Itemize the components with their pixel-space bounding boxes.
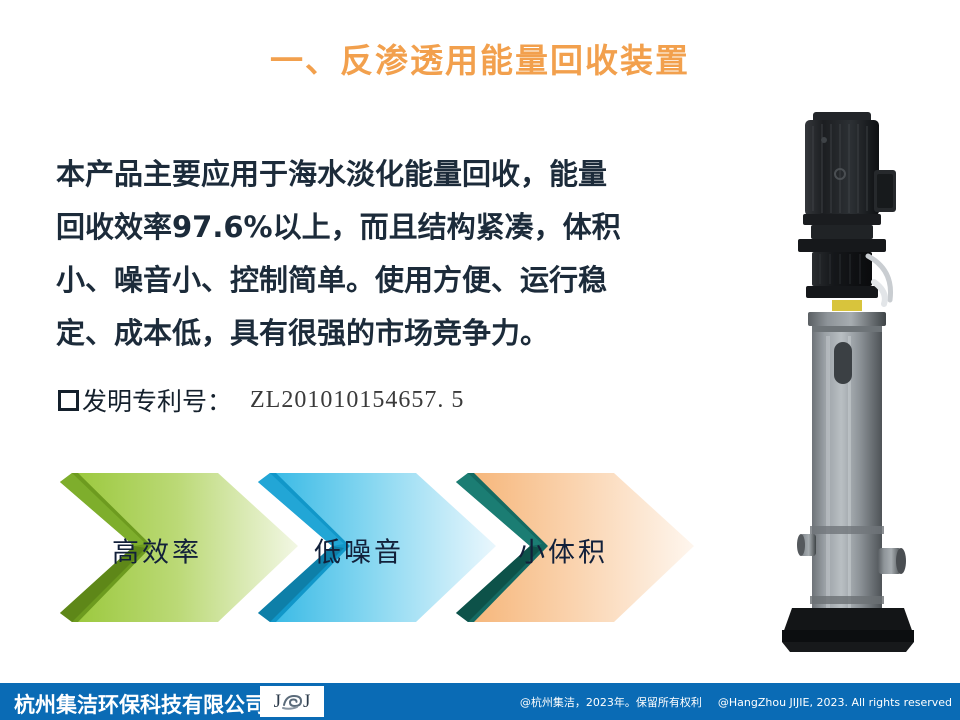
body-line-4: 定、成本低，具有很强的市场竞争力。 [56, 307, 696, 360]
logo-letter-right: J [303, 692, 310, 711]
logo-letter-left: J [274, 692, 281, 711]
logo-swirl-icon [281, 692, 303, 712]
patent-number: ZL201010154657. 5 [250, 387, 464, 414]
chevron-process-graphic: 高效率 低噪音 [0, 470, 760, 640]
product-image [756, 96, 956, 656]
footer-copyright-en: @HangZhou JIJIE, 2023. All rights reserv… [718, 696, 952, 709]
footer-company-name: 杭州集洁环保科技有限公司 [14, 689, 266, 719]
footer-copyright: @杭州集洁，2023年。保留所有权利 @HangZhou JIJIE, 2023… [520, 694, 952, 710]
company-logo: J J [260, 686, 324, 717]
page-title: 一、反渗透用能量回收装置 [0, 34, 960, 82]
footer-bar: 杭州集洁环保科技有限公司 J J @杭州集洁，2023年。保留所有权利 @Han… [0, 683, 960, 720]
patent-line: 发明专利号： ZL201010154657. 5 [58, 382, 464, 418]
body-paragraph: 本产品主要应用于海水淡化能量回收，能量 回收效率97.6%以上，而且结构紧凑，体… [56, 148, 696, 360]
body-line-1: 本产品主要应用于海水淡化能量回收，能量 [56, 148, 696, 201]
body-line-2: 回收效率97.6%以上，而且结构紧凑，体积 [56, 201, 696, 254]
chevron-step-3[interactable]: 小体积 [456, 470, 708, 630]
slide-canvas: 一、反渗透用能量回收装置 本产品主要应用于海水淡化能量回收，能量 回收效率97.… [0, 0, 960, 720]
body-line-3: 小、噪音小、控制简单。使用方便、运行稳 [56, 254, 696, 307]
patent-label: 发明专利号： [82, 382, 232, 418]
square-bullet-icon [58, 390, 79, 411]
footer-copyright-cn: @杭州集洁，2023年。保留所有权利 [520, 696, 702, 709]
